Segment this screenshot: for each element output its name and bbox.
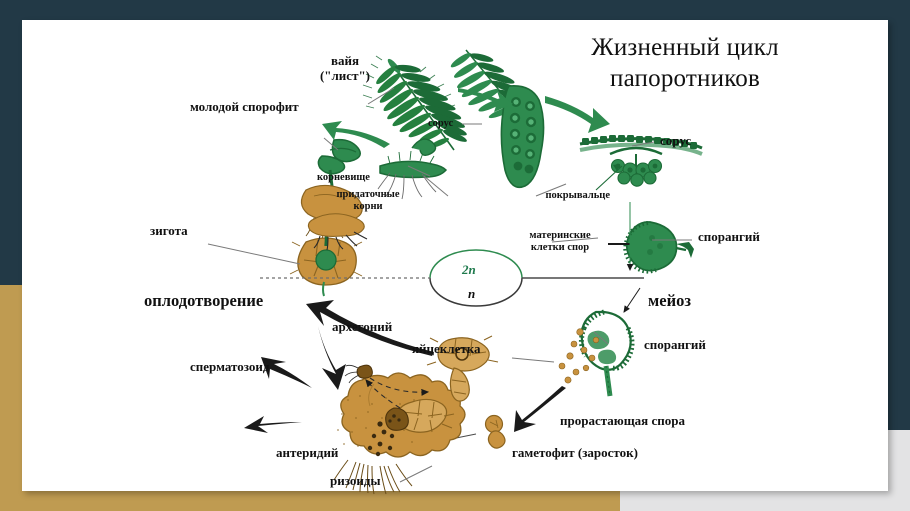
label-materinskie-kletki-spor: материнские клетки спор — [514, 230, 606, 254]
fertilization-up-arrow — [318, 326, 346, 390]
diagram-artwork — [132, 26, 832, 486]
label-sporangiy-right: спорангий — [644, 338, 706, 353]
sporangium-closed-illustration — [608, 222, 694, 272]
slide-canvas: Жизненный цикл папоротников — [0, 0, 910, 511]
label-prorastayushchaya-spora: прорастающая спора — [560, 414, 685, 429]
label-spermatozoid: сперматозоид — [190, 360, 269, 375]
label-sporangiy-top: спорангий — [698, 230, 760, 245]
label-yaytsekletka: яйцеклетка — [412, 342, 481, 357]
label-pridatochnye-korni: придаточные корни — [328, 189, 408, 213]
life-cycle-diagram: вайя ("лист") молодой спорофит сорус кор… — [132, 26, 832, 486]
label-oplodotvorenie: оплодотворение — [144, 292, 263, 311]
label-molodoy-sporofit: молодой спорофит — [190, 100, 299, 115]
label-gametofit: гаметофит (заросток) — [512, 446, 638, 461]
ploidy-2n: 2n — [462, 262, 476, 278]
germinating-spore-illustration — [486, 416, 506, 449]
ploidy-ellipse — [430, 250, 522, 306]
label-anteridiy: антеридий — [276, 446, 338, 461]
slide-content-area: Жизненный цикл папоротников — [22, 20, 888, 491]
label-pokryvalce: покрывальце — [522, 190, 610, 202]
label-sorus-top: сорус — [428, 118, 453, 130]
ploidy-n: n — [468, 286, 475, 302]
label-sorus-right: сорус — [660, 134, 691, 149]
label-rizoidy: ризоиды — [330, 474, 381, 489]
label-arhegoniy: архегоний — [332, 320, 392, 335]
green-process-arrows — [322, 88, 610, 148]
label-kornevishche: корневище — [317, 172, 370, 184]
label-zigota: зигота — [150, 224, 188, 239]
sporangium-open-illustration — [559, 312, 632, 396]
spore-dispersal-arrow — [514, 386, 566, 432]
label-meyoz: мейоз — [648, 292, 691, 311]
label-vaya: вайя ("лист") — [300, 54, 390, 84]
